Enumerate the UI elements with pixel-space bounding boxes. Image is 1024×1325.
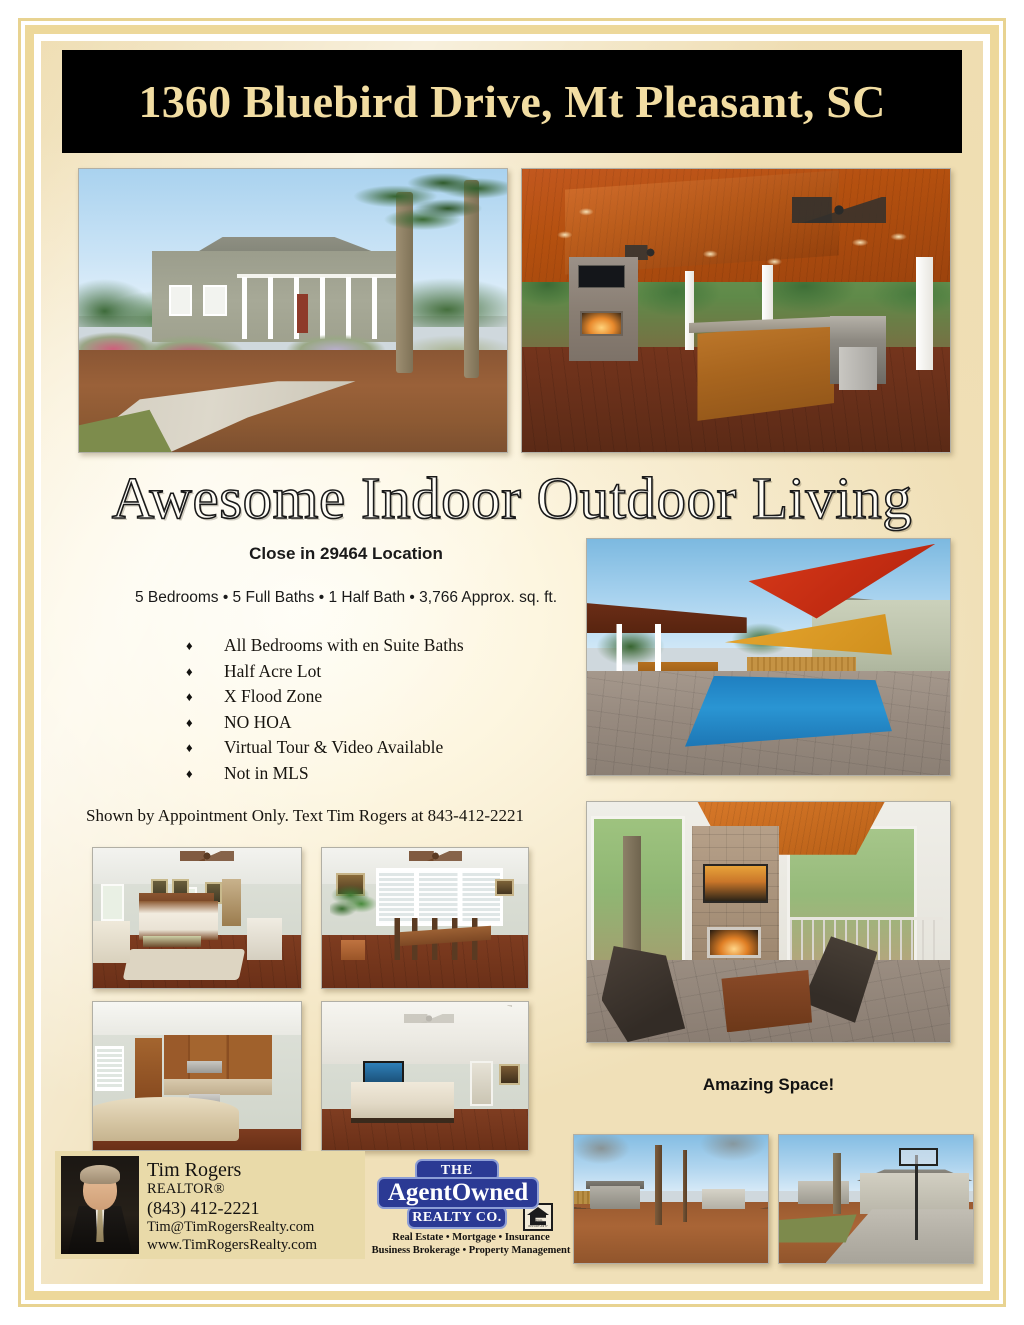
kitchen-photo	[92, 1001, 302, 1151]
agent-phone[interactable]: (843) 412-2221	[147, 1198, 317, 1219]
front-exterior-photo	[78, 168, 508, 453]
window-left	[169, 285, 193, 316]
window-left	[101, 884, 124, 920]
agent-details: Tim Rogers REALTOR® (843) 412-2221 Tim@T…	[147, 1159, 317, 1254]
diamond-bullet-icon: ♦	[186, 761, 193, 787]
bed-bench	[143, 936, 201, 947]
dining-room-photo	[321, 847, 529, 989]
tall-cabinet	[135, 1038, 162, 1103]
wall-art	[499, 1064, 520, 1085]
carport	[798, 1181, 848, 1204]
diamond-bullet-icon: ♦	[186, 633, 193, 659]
appointment-note: Shown by Appointment Only. Text Tim Roge…	[86, 806, 606, 826]
brokerage-tagline: Real Estate • Mortgage • Insurance Busin…	[371, 1231, 571, 1257]
flyer-content: 1360 Bluebird Drive, Mt Pleasant, SC	[41, 41, 983, 1284]
fireplace-firebox	[580, 311, 623, 336]
location-subheading: Close in 29464 Location	[131, 544, 561, 564]
feature-label: All Bedrooms with en Suite Baths	[224, 635, 464, 655]
accent-chair	[247, 918, 282, 960]
driveway-basketball-hoop-photo	[778, 1134, 974, 1264]
feature-list: ♦ All Bedrooms with en Suite Baths ♦ Hal…	[186, 633, 606, 786]
list-item: ♦ Half Acre Lot	[186, 659, 606, 685]
wall-art-small	[495, 879, 514, 896]
diamond-bullet-icon: ♦	[186, 735, 193, 761]
diamond-bullet-icon: ♦	[186, 710, 193, 736]
outdoor-tv	[578, 265, 625, 288]
covered-outdoor-kitchen-photo	[521, 168, 951, 453]
basketball-backboard	[899, 1148, 938, 1166]
tree-trunk-2	[683, 1150, 688, 1222]
porch-column-1	[685, 271, 695, 350]
ceiling-fan-icon	[409, 851, 463, 861]
wall-mounted-tv	[703, 864, 768, 902]
ceiling-fan-icon	[404, 1014, 453, 1023]
tagline-line-2: Business Brokerage • Property Management	[371, 1244, 571, 1257]
feature-label: Virtual Tour & Video Available	[224, 737, 443, 757]
agent-name: Tim Rogers	[147, 1159, 317, 1181]
palm-fronds-b	[404, 168, 508, 243]
agent-role: REALTOR®	[147, 1181, 317, 1198]
tagline-line-1: Real Estate • Mortgage • Insurance	[371, 1231, 571, 1244]
hair-shape	[80, 1165, 120, 1184]
range-hood	[187, 1061, 222, 1073]
master-bedroom-photo	[92, 847, 302, 989]
ceiling	[93, 1002, 301, 1035]
feature-label: Half Acre Lot	[224, 661, 321, 681]
amazing-space-caption: Amazing Space!	[586, 1075, 951, 1095]
headline-text: Awesome Indoor Outdoor Living	[41, 464, 983, 533]
feature-label: Not in MLS	[224, 763, 309, 783]
diamond-bullet-icon: ♦	[186, 684, 193, 710]
agent-website[interactable]: www.TimRogersRealty.com	[147, 1236, 317, 1254]
pine-straw-ground	[574, 1202, 768, 1263]
agent-headshot	[61, 1156, 139, 1254]
potted-plant-foliage	[330, 884, 375, 946]
ceiling-fan-icon-large	[792, 197, 886, 222]
logo-sign-bottom: REALTY CO.	[407, 1206, 507, 1229]
terracotta-pot	[341, 940, 366, 960]
list-item: ♦ NO HOA	[186, 710, 606, 736]
hall-doorway	[222, 879, 241, 927]
fireplace-firebox	[707, 927, 761, 958]
wooded-backyard-photo	[573, 1134, 769, 1264]
bare-trees-layer	[574, 1135, 768, 1209]
window-right	[203, 285, 227, 316]
basketball-hoop-pole	[915, 1155, 918, 1239]
trunk-coffee-table	[718, 970, 812, 1032]
diamond-bullet-icon: ♦	[186, 659, 193, 685]
page-title: 1360 Bluebird Drive, Mt Pleasant, SC	[139, 75, 886, 128]
kitchen-window	[95, 1046, 124, 1090]
pool-with-shade-sails-photo	[586, 538, 951, 776]
list-item: ♦ Virtual Tour & Video Available	[186, 735, 606, 761]
feature-label: NO HOA	[224, 712, 292, 732]
screened-porch-fireplace-photo	[586, 801, 951, 1043]
eho-caption: EQUAL HOUSING OPPORTUNITY	[527, 1219, 549, 1228]
doorway	[470, 1061, 493, 1105]
list-item: ♦ Not in MLS	[186, 761, 606, 787]
agent-email[interactable]: Tim@TimRogersRealty.com	[147, 1219, 317, 1236]
list-item: ♦ All Bedrooms with en Suite Baths	[186, 633, 606, 659]
tree-trunk-1	[655, 1145, 662, 1224]
header-banner: 1360 Bluebird Drive, Mt Pleasant, SC	[62, 50, 962, 153]
brokerage-logo: THE REALTY CO. AgentOwned EQUAL HOUSING …	[371, 1159, 571, 1263]
area-rug	[123, 949, 246, 980]
palm-trunk	[833, 1153, 841, 1214]
bed	[139, 901, 218, 940]
logo-sign-main: AgentOwned	[377, 1177, 539, 1209]
sitting-sofa	[92, 921, 130, 963]
ceiling-fan-icon	[180, 851, 234, 861]
agent-contact-card: Tim Rogers REALTOR® (843) 412-2221 Tim@T…	[55, 1151, 365, 1259]
outdoor-refrigerator	[839, 347, 878, 389]
sectional-sofa	[351, 1082, 454, 1123]
porch-column-3	[916, 257, 933, 370]
property-specs-line: 5 Bedrooms • 5 Full Baths • 1 Half Bath …	[111, 589, 581, 607]
family-room-photo	[321, 1001, 529, 1151]
list-item: ♦ X Flood Zone	[186, 684, 606, 710]
feature-label: X Flood Zone	[224, 686, 322, 706]
granite-island	[92, 1097, 239, 1141]
